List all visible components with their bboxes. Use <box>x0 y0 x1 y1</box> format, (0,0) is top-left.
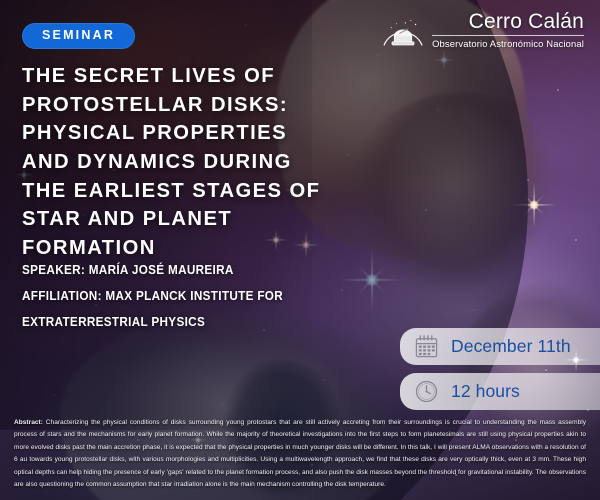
title-line: THE EARLIEST STAGES OF <box>22 177 392 206</box>
date-pill: December 11th <box>400 328 600 365</box>
page-title: THE SECRET LIVES OF PROTOSTELLAR DISKS: … <box>22 62 392 263</box>
logo-text-group: Cerro Calán Observatorio Astronómico Nac… <box>432 11 584 49</box>
abstract-text: Abstract: Characterizing the physical co… <box>14 417 586 492</box>
observatory-dome-icon <box>381 10 425 50</box>
calendar-icon <box>414 334 439 359</box>
time-pill: 12 hours <box>400 373 600 410</box>
title-line: AND DYNAMICS DURING <box>22 148 392 177</box>
observatory-logo: Cerro Calán Observatorio Astronómico Nac… <box>381 10 584 50</box>
abstract-label: Abstract: <box>14 419 43 426</box>
title-line: STAR AND PLANET <box>22 205 392 234</box>
logo-divider <box>432 35 584 36</box>
time-value: 12 hours <box>451 381 520 401</box>
abstract-body: Characterizing the physical conditions o… <box>14 419 586 489</box>
logo-subtitle: Observatorio Astronómico Nacional <box>432 38 584 49</box>
speaker-name-line: SPEAKER: MARÍA JOSÉ MAUREIRA <box>22 258 283 284</box>
title-line: THE SECRET LIVES OF <box>22 62 392 91</box>
speaker-details: SPEAKER: MARÍA JOSÉ MAUREIRA AFFILIATION… <box>22 258 283 335</box>
seminar-poster: SEMINAR Cerro Calán Observatorio Astronó… <box>0 0 600 500</box>
seminar-badge: SEMINAR <box>22 23 135 49</box>
affiliation-line-2: EXTRATERRESTRIAL PHYSICS <box>22 310 283 336</box>
logo-title: Cerro Calán <box>469 11 584 32</box>
event-info-pills: December 11th 12 hours <box>400 328 600 410</box>
poster-content: SEMINAR Cerro Calán Observatorio Astronó… <box>0 0 600 500</box>
clock-icon <box>414 379 439 404</box>
affiliation-line-1: AFFILIATION: MAX PLANCK INSTITUTE FOR <box>22 284 283 310</box>
date-value: December 11th <box>451 336 571 356</box>
title-line: PHYSICAL PROPERTIES <box>22 119 392 148</box>
title-line: PROTOSTELLAR DISKS: <box>22 91 392 120</box>
